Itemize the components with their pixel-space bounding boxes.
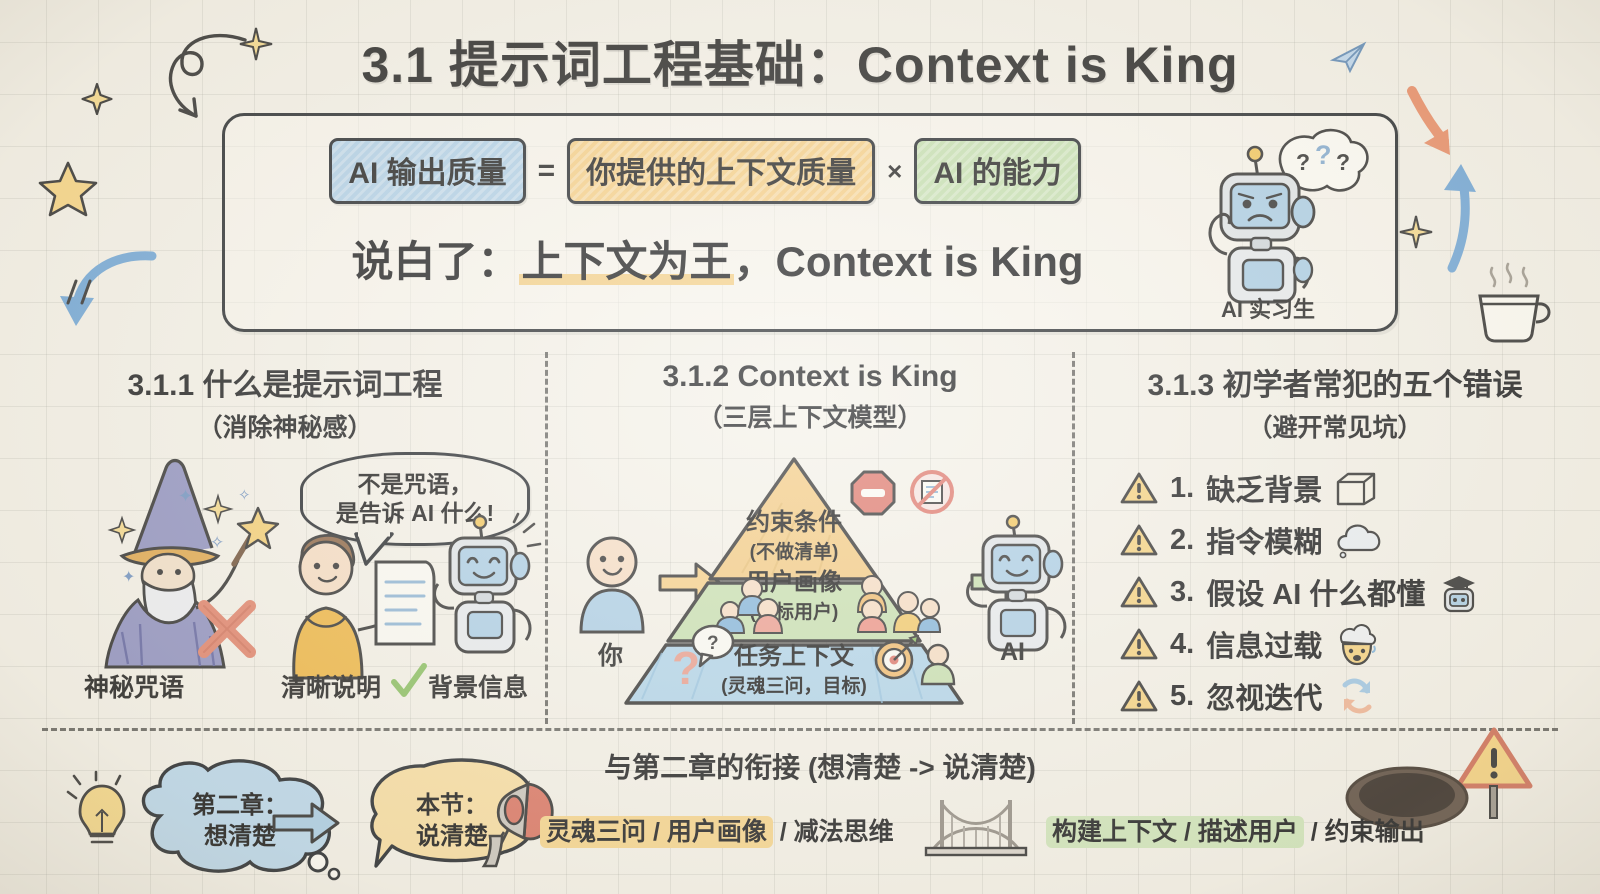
tags-right-rest: / 约束输出: [1304, 818, 1425, 846]
target-icon: [872, 634, 920, 682]
check-mark-icon: [388, 660, 430, 702]
tagline-highlight: 上下文为王: [519, 238, 733, 285]
refresh-icon: [1334, 675, 1380, 717]
tags-right-group: 构建上下文 / 描述用户 / 约束输出: [1046, 812, 1425, 848]
assistant-robot-figure: [420, 516, 550, 684]
col1-subtitle: （消除神秘感）: [40, 408, 530, 444]
no-entry-sign-icon: [850, 470, 896, 516]
mistake-row-2: 2. 指令模糊: [1120, 514, 1481, 566]
label-you: 你: [598, 636, 623, 672]
tags-left-rest: / 减法思维: [773, 818, 894, 846]
svg-text:?: ?: [707, 633, 719, 654]
tagline-prefix: 说白了：: [351, 238, 519, 285]
svg-text:?: ?: [1336, 149, 1350, 175]
formula-times-sign: ×: [887, 156, 902, 187]
svg-text:✧: ✧: [238, 487, 251, 504]
mistake-row-5: 5. 忽视迭代: [1120, 670, 1481, 722]
mistake-text-2: 指令模糊: [1206, 519, 1322, 561]
mistake-row-4: 4. 信息过载: [1120, 618, 1481, 670]
svg-text:✦: ✦: [122, 569, 135, 586]
people-group-right-icon: [848, 566, 940, 632]
hero-formula-box: AI 输出质量 = 你提供的上下文质量 × AI 的能力 说白了：上下文为王，C…: [222, 113, 1398, 332]
mistake-number-2: 2.: [1170, 524, 1194, 557]
svg-text:✦: ✦: [178, 486, 193, 506]
empty-box-icon: [1334, 470, 1378, 506]
col3-subtitle: （避开常见坑）: [1085, 408, 1585, 444]
formula-row: AI 输出质量 = 你提供的上下文质量 × AI 的能力: [225, 138, 1185, 204]
cloud-icon: [1334, 520, 1384, 560]
pyramid-top-sub: (不做清单): [694, 537, 894, 564]
page-title: 3.1 提示词工程基础：Context is King: [0, 25, 1600, 97]
warning-triangle-icon: [1120, 679, 1158, 713]
warning-triangle-icon: [1120, 575, 1158, 609]
mistake-text-1: 缺乏背景: [1206, 467, 1322, 509]
caption-background-info: 背景信息: [428, 668, 528, 704]
formula-equals-sign: =: [538, 154, 556, 188]
svg-text:✧: ✧: [210, 533, 224, 552]
ai-intern-caption: AI 实习生: [1163, 292, 1373, 324]
col3-title: 3.1.3 初学者常犯的五个错误: [1085, 360, 1585, 404]
cross-mark-icon: [196, 600, 258, 658]
tagline-suffix: ，Context is King: [734, 238, 1084, 285]
col1-title: 3.1.1 什么是提示词工程: [40, 360, 530, 404]
svg-text:?: ?: [1315, 140, 1332, 170]
bubble-line-1: 不是咒语，: [336, 470, 494, 499]
arrow-chapter2-to-this-icon: [272, 800, 340, 846]
mistake-text-4: 信息过载: [1206, 623, 1322, 665]
formula-chip-ai-capability: AI 的能力: [914, 138, 1080, 204]
tags-right-highlight: 构建上下文 / 描述用户: [1046, 816, 1304, 848]
col2-subtitle: （三层上下文模型）: [560, 398, 1060, 434]
label-ai: AI: [1000, 638, 1025, 667]
tags-left-highlight: 灵魂三问 / 用户画像: [540, 816, 773, 848]
user-avatar-icon: [918, 642, 958, 684]
formula-chip-output-quality: AI 输出质量: [329, 138, 525, 204]
warning-triangle-icon: [1120, 627, 1158, 661]
mistake-number-3: 3.: [1170, 576, 1194, 609]
infographic-page: 3.1 提示词工程基础：Context is King AI 输出质量 = 你提…: [0, 0, 1600, 894]
graduate-robot-icon: [1437, 571, 1481, 613]
mistake-row-3: 3. 假设 AI 什么都懂: [1120, 566, 1481, 618]
hero-tagline: 说白了：上下文为王，Context is King: [225, 228, 1210, 289]
divider-bottom: [42, 728, 1558, 731]
column-heading-311: 3.1.1 什么是提示词工程 （消除神秘感）: [40, 360, 530, 444]
mistake-number-5: 5.: [1170, 680, 1194, 713]
exploding-head-icon: [1334, 622, 1380, 666]
warning-triangle-icon: [1120, 523, 1158, 557]
doodle-coffee-cup-icon: [1468, 258, 1560, 344]
common-mistakes-list: 1. 缺乏背景 2. 指令模糊 3. 假设 AI 什么都懂: [1120, 462, 1481, 722]
pyramid-bot-sub: (灵魂三问，目标): [694, 671, 894, 698]
mistake-row-1: 1. 缺乏背景: [1120, 462, 1481, 514]
col2-title: 3.1.2 Context is King: [560, 360, 1060, 394]
question-bubble-icon: ?: [690, 624, 736, 668]
doodle-sparkle-right-icon: [1399, 215, 1433, 249]
doodle-scribble-lines-icon: [62, 277, 102, 307]
column-heading-313: 3.1.3 初学者常犯的五个错误 （避开常见坑）: [1085, 360, 1585, 444]
lightbulb-icon: [62, 772, 128, 852]
mistake-number-4: 4.: [1170, 628, 1194, 661]
bridge-illustration-icon: [924, 796, 1028, 862]
ai-intern-robot: ? ? ?: [1163, 130, 1373, 320]
warning-triangle-icon: [1120, 471, 1158, 505]
mistake-text-3: 假设 AI 什么都懂: [1206, 571, 1425, 613]
column-heading-312: 3.1.2 Context is King （三层上下文模型）: [560, 360, 1060, 434]
formula-chip-context-quality: 你提供的上下文质量: [567, 138, 875, 204]
mistake-number-1: 1.: [1170, 472, 1194, 505]
bridge-title: 与第二章的衔接 (想清楚 -> 说清楚): [460, 746, 1180, 786]
prohibited-document-icon: [908, 468, 956, 516]
svg-text:?: ?: [1296, 149, 1310, 175]
caption-clear-instruction: 清晰说明: [281, 668, 381, 704]
tags-left-group: 灵魂三问 / 用户画像 / 减法思维: [540, 812, 894, 848]
caption-mystic-spell: 神秘咒语: [84, 668, 184, 704]
doodle-star-large-topleft: [38, 160, 98, 218]
mistake-text-5: 忽视迭代: [1206, 675, 1322, 717]
